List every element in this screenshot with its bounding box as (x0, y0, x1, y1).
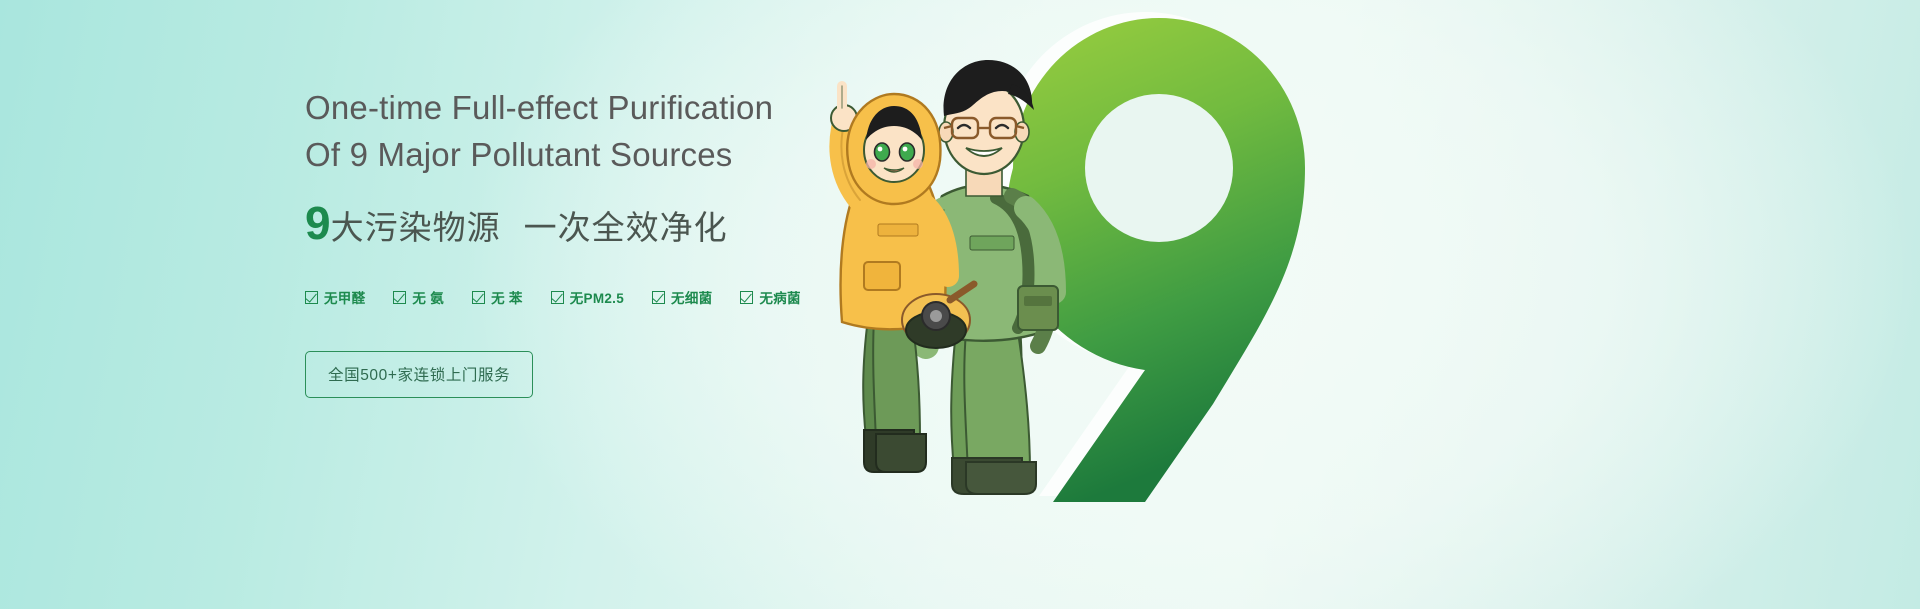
feature-item: 无 苯 (472, 287, 523, 307)
feature-item: 无甲醛 (305, 287, 365, 307)
checkbox-check-icon (740, 291, 753, 304)
chinese-headline: 9 大污染物源 一次全效净化 (305, 200, 865, 246)
checkbox-check-icon (472, 291, 485, 304)
feature-item: 无细菌 (652, 287, 712, 307)
banner-content: One-time Full-effect Purification Of 9 M… (305, 84, 865, 398)
checkbox-check-icon (551, 291, 564, 304)
english-headline-line2: Of 9 Major Pollutant Sources (305, 131, 865, 178)
chinese-headline-part1: 大污染物源 (331, 211, 501, 244)
feature-label: 无PM2.5 (570, 287, 624, 307)
feature-label: 无病菌 (759, 287, 800, 307)
feature-item: 无病菌 (740, 287, 800, 307)
feature-item: 无PM2.5 (551, 287, 624, 307)
feature-label: 无细菌 (671, 287, 712, 307)
checkbox-check-icon (393, 291, 406, 304)
feature-label: 无 氨 (412, 287, 444, 307)
english-headline-line1: One-time Full-effect Purification (305, 84, 865, 131)
feature-item: 无 氨 (393, 287, 444, 307)
checkbox-check-icon (305, 291, 318, 304)
english-headline: One-time Full-effect Purification Of 9 M… (305, 84, 865, 178)
illustration-art (760, 0, 1460, 609)
feature-label: 无 苯 (491, 287, 523, 307)
nationwide-service-button[interactable]: 全国500+家连锁上门服务 (305, 351, 533, 398)
checkbox-check-icon (652, 291, 665, 304)
feature-label: 无甲醛 (324, 287, 365, 307)
promo-banner: One-time Full-effect Purification Of 9 M… (0, 0, 1920, 609)
chinese-headline-number: 9 (305, 200, 330, 246)
feature-list: 无甲醛 无 氨 无 苯 无PM2.5 无细菌 无病菌 (305, 287, 865, 307)
chinese-headline-part2: 一次全效净化 (524, 211, 728, 244)
